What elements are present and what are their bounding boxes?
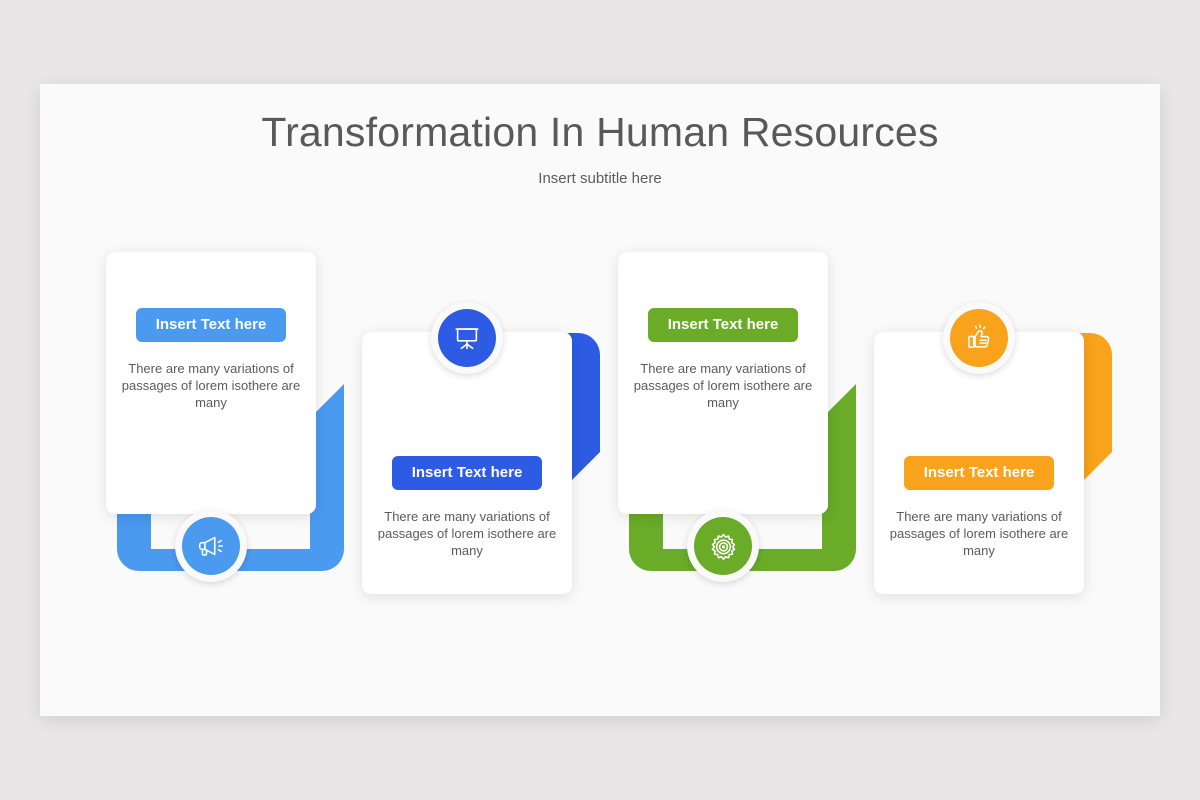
step-1-description: There are many variations of passages of… (118, 360, 304, 411)
step-4-description: There are many variations of passages of… (886, 508, 1072, 559)
step-4-label-button[interactable]: Insert Text here (904, 456, 1055, 490)
slide-canvas: Transformation In Human Resources Insert… (40, 84, 1160, 716)
step-1-icon-badge[interactable] (175, 510, 247, 582)
step-4-icon-badge[interactable] (943, 302, 1015, 374)
step-1-label-button[interactable]: Insert Text here (136, 308, 287, 342)
step-2-label-button[interactable]: Insert Text here (392, 456, 543, 490)
step-2-icon-badge[interactable] (431, 302, 503, 374)
thumbs-up-icon (950, 309, 1008, 367)
step-3-description: There are many variations of passages of… (630, 360, 816, 411)
step-2-description: There are many variations of passages of… (374, 508, 560, 559)
step-card-1[interactable]: Insert Text here There are many variatio… (106, 252, 316, 514)
megaphone-icon (182, 517, 240, 575)
step-card-3[interactable]: Insert Text here There are many variatio… (618, 252, 828, 514)
presentation-board-icon (438, 309, 496, 367)
gear-icon (694, 517, 752, 575)
step-3-label-button[interactable]: Insert Text here (648, 308, 799, 342)
step-3-icon-badge[interactable] (687, 510, 759, 582)
infographic-stage: Insert Text here There are many variatio… (40, 84, 1160, 716)
